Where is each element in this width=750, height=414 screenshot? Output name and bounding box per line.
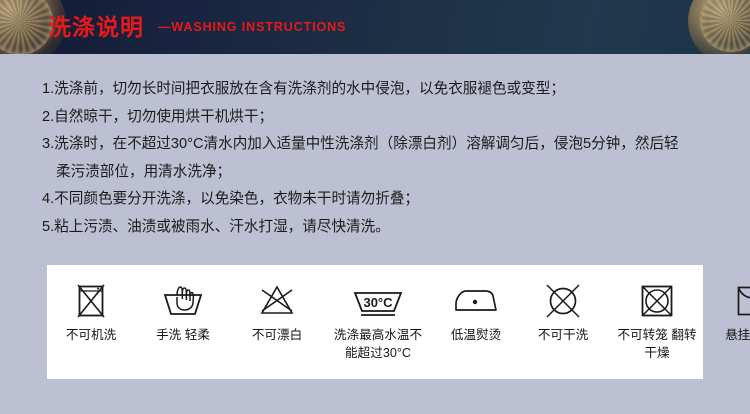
- care-symbol-item: 不可干洗: [519, 281, 607, 344]
- instruction-item: 3.洗涤时，在不超过30°C清水内加入适量中性洗涤剂（除漂白剂）溶解调匀后，侵泡…: [42, 131, 718, 159]
- care-symbol-item: 不可机洗: [47, 281, 135, 344]
- hand-wash-gentle-icon: [160, 281, 206, 321]
- care-symbol-item: 不可转笼 翻转 干燥: [607, 281, 707, 362]
- instruction-item: 2.自然晾干，切勿使用烘干机烘干；: [42, 104, 718, 132]
- care-symbol-panel: 不可机洗 手洗 轻柔 不可漂白: [47, 265, 703, 379]
- do-not-machine-wash-icon: [74, 281, 108, 321]
- care-symbol-label: 悬挂 晒干: [725, 326, 750, 344]
- instruction-item: 4.不同颜色要分开洗涤，以免染色，衣物未干时请勿折叠；: [42, 186, 718, 214]
- care-symbol-label: 洗涤最高水温不 能超过30°C: [334, 326, 422, 362]
- care-symbol-item: 30°C 洗涤最高水温不 能超过30°C: [323, 281, 433, 362]
- care-symbol-label: 不可干洗: [538, 326, 588, 344]
- do-not-dry-clean-icon: [542, 281, 584, 321]
- care-symbol-item: 悬挂 晒干: [707, 281, 750, 344]
- header-title-group: 洗涤说明 —WASHING INSTRUCTIONS: [48, 0, 346, 54]
- wash-max-30c-icon: 30°C: [349, 281, 407, 321]
- do-not-bleach-icon: [256, 281, 298, 321]
- care-symbol-label: 不可漂白: [252, 326, 302, 344]
- do-not-tumble-dry-icon: [637, 281, 677, 321]
- page-subtitle: —WASHING INSTRUCTIONS: [158, 21, 346, 34]
- care-symbol-item: 不可漂白: [231, 281, 323, 344]
- svg-text:30°C: 30°C: [363, 295, 393, 310]
- iron-low-heat-icon: [452, 281, 500, 321]
- instruction-item: 1.洗涤前，切勿长时间把衣服放在含有洗涤剂的水中侵泡，以免衣服褪色或变型；: [42, 76, 718, 104]
- medallion-ornament-right-icon: [688, 0, 750, 54]
- care-symbol-label: 不可转笼 翻转 干燥: [617, 326, 696, 362]
- care-symbol-label: 手洗 轻柔: [156, 326, 210, 344]
- page-title: 洗涤说明: [48, 16, 144, 39]
- care-symbol-item: 手洗 轻柔: [135, 281, 231, 344]
- instruction-item: 5.粘上污渍、油渍或被雨水、汗水打湿，请尽快清洗。: [42, 214, 718, 242]
- line-dry-hang-icon: [732, 281, 750, 321]
- instruction-item-continuation: 柔污渍部位，用清水洗净；: [42, 159, 718, 187]
- care-symbol-label: 不可机洗: [66, 326, 116, 344]
- page-header: 洗涤说明 —WASHING INSTRUCTIONS: [0, 0, 750, 54]
- care-symbol-item: 低温熨烫: [433, 281, 519, 344]
- instruction-list: 1.洗涤前，切勿长时间把衣服放在含有洗涤剂的水中侵泡，以免衣服褪色或变型； 2.…: [42, 76, 718, 241]
- care-symbol-label: 低温熨烫: [451, 326, 501, 344]
